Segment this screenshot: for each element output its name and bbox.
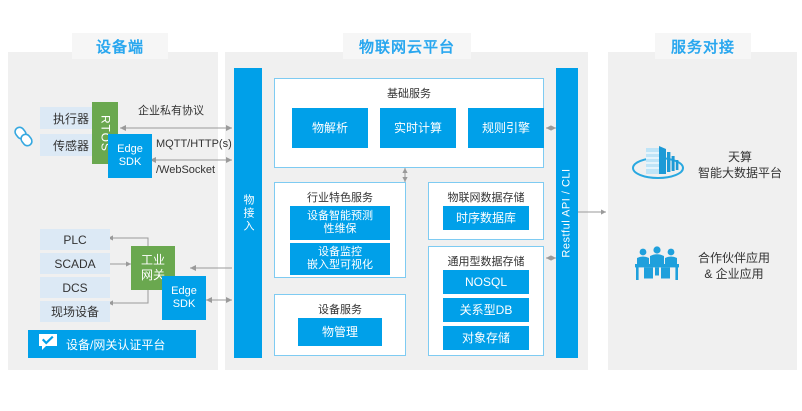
protocol-label-private: 企业私有协议 <box>138 102 204 118</box>
edge-sdk-gateway-line2: SDK <box>173 298 196 311</box>
general-storage-item-object-storage[interactable]: 对象存储 <box>443 326 529 350</box>
industrial-gateway-line1: 工业 <box>141 253 165 268</box>
panel-title-iot-platform: 物联网云平台 <box>343 33 471 59</box>
panel-service-docking <box>608 52 797 370</box>
protocol-label-mqtt: MQTT/HTTP(s) <box>156 138 232 150</box>
industry-service-item-device-monitor-visualization[interactable]: 设备监控 嵌入型可视化 <box>290 243 390 275</box>
service-entry-tiansuan-line1: 天算 <box>728 150 752 164</box>
diagram-canvas: 设备端 物联网云平台 服务对接 <box>0 0 802 411</box>
service-entry-partner-apps[interactable]: 合作伙伴应用 & 企业应用 <box>630 244 770 287</box>
industry-item-0-line1: 设备智能预测 <box>307 210 373 223</box>
check-badge-icon <box>38 333 58 356</box>
partners-table-icon <box>630 244 686 287</box>
service-entry-partner-apps-label: 合作伙伴应用 & 企业应用 <box>698 250 770 282</box>
industry-item-0-line2: 性维保 <box>324 223 357 236</box>
egress-bar-label: Restful API / CLI <box>561 168 573 257</box>
field-item-onsite-device[interactable]: 现场设备 <box>40 301 110 322</box>
edge-sdk-device-line1: Edge <box>117 143 143 156</box>
basic-service-item-realtime-compute[interactable]: 实时计算 <box>380 108 456 148</box>
industry-item-1-line1: 设备监控 <box>318 246 362 259</box>
panel-title-device-side: 设备端 <box>72 33 168 59</box>
group-device-service-title: 设备服务 <box>275 301 405 317</box>
field-item-scada[interactable]: SCADA <box>40 253 110 274</box>
service-entry-tiansuan-label: 天算 智能大数据平台 <box>698 149 782 181</box>
industry-service-item-predictive-maintenance[interactable]: 设备智能预测 性维保 <box>290 206 390 240</box>
basic-service-item-rule-engine[interactable]: 规则引擎 <box>468 108 544 148</box>
general-storage-item-nosql[interactable]: NOSQL <box>443 270 529 294</box>
panel-title-service-docking: 服务对接 <box>655 33 751 59</box>
auth-platform-bar[interactable]: 设备/网关认证平台 <box>28 330 196 358</box>
device-service-item-thing-management[interactable]: 物管理 <box>298 318 382 346</box>
field-item-dcs[interactable]: DCS <box>40 277 110 298</box>
industry-item-1-line2: 嵌入型可视化 <box>307 259 373 272</box>
auth-platform-label: 设备/网关认证平台 <box>66 336 165 353</box>
egress-bar-restful-api[interactable]: Restful API / CLI <box>556 68 578 358</box>
group-iot-data-storage-title: 物联网数据存储 <box>429 189 543 205</box>
general-storage-item-relational-db[interactable]: 关系型DB <box>443 298 529 322</box>
ingress-bar-thing-access[interactable]: 物接入 <box>234 68 262 358</box>
group-industry-service-title: 行业特色服务 <box>275 189 405 205</box>
edge-sdk-device-box[interactable]: Edge SDK <box>108 134 152 178</box>
edge-sdk-device-line2: SDK <box>119 156 142 169</box>
service-entry-partner-line1: 合作伙伴应用 <box>698 251 770 265</box>
field-item-plc[interactable]: PLC <box>40 229 110 250</box>
iot-storage-item-timeseries-db[interactable]: 时序数据库 <box>443 206 529 230</box>
edge-sdk-gateway-line1: Edge <box>171 285 197 298</box>
bigdata-building-icon <box>630 140 686 189</box>
group-general-data-storage-title: 通用型数据存储 <box>429 253 543 269</box>
ingress-bar-label: 物接入 <box>240 194 256 233</box>
link-icon <box>12 124 36 150</box>
basic-service-item-parse[interactable]: 物解析 <box>292 108 368 148</box>
panel-device-side <box>8 52 218 370</box>
group-basic-service-title: 基础服务 <box>275 85 543 101</box>
service-entry-partner-line2: & 企业应用 <box>704 267 763 281</box>
service-entry-tiansuan[interactable]: 天算 智能大数据平台 <box>630 140 782 189</box>
service-entry-tiansuan-line2: 智能大数据平台 <box>698 166 782 180</box>
protocol-label-websocket: /WebSocket <box>156 164 215 176</box>
edge-sdk-gateway-box[interactable]: Edge SDK <box>162 276 206 320</box>
